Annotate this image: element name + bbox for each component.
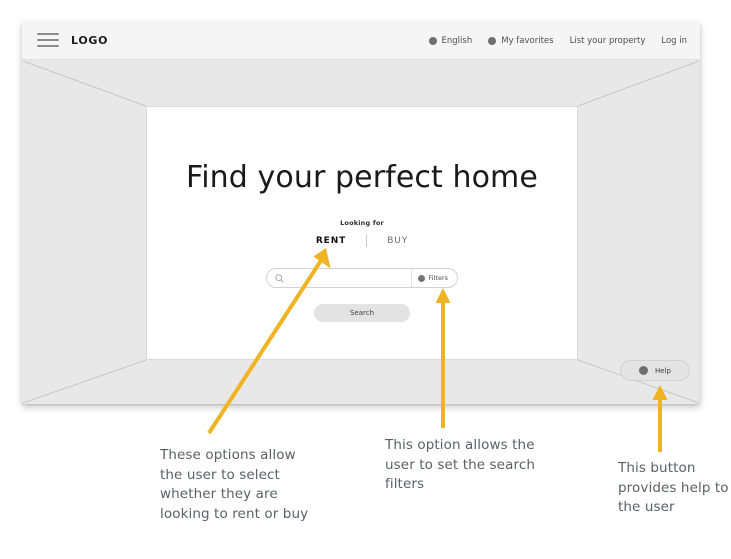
top-navigation-bar: LOGO English My favorites List your prop… — [22, 22, 700, 60]
help-label: Help — [655, 367, 671, 375]
nav-item-log-in[interactable]: Log in — [661, 36, 687, 46]
search-button[interactable]: Search — [314, 304, 410, 322]
nav-label: List your property — [570, 36, 646, 46]
top-nav-links: English My favorites List your property … — [429, 22, 687, 60]
search-bar: Filters — [266, 268, 458, 288]
heart-dot-icon — [488, 37, 496, 45]
nav-label: Log in — [661, 36, 687, 46]
hamburger-line — [37, 39, 59, 41]
page-title: Find your perfect home — [147, 160, 577, 195]
looking-for-label: Looking for — [147, 219, 577, 227]
hamburger-line — [37, 45, 59, 47]
help-dot-icon — [639, 366, 648, 375]
annotation-text-rent-buy: These options allow the user to select w… — [160, 446, 320, 524]
hero-content-panel: Find your perfect home Looking for RENT … — [146, 106, 578, 360]
hamburger-menu-icon[interactable] — [37, 33, 59, 48]
nav-label: My favorites — [501, 36, 553, 46]
tab-divider — [366, 234, 367, 247]
nav-label: English — [442, 36, 473, 46]
nav-item-list-your-property[interactable]: List your property — [570, 36, 646, 46]
nav-item-my-favorites[interactable]: My favorites — [488, 36, 553, 46]
app-window-frame: LOGO English My favorites List your prop… — [22, 22, 700, 404]
filters-button[interactable]: Filters — [412, 274, 457, 282]
site-logo[interactable]: LOGO — [71, 34, 108, 47]
annotation-text-filters: This option allows the user to set the s… — [385, 436, 535, 495]
tab-rent[interactable]: RENT — [316, 236, 346, 246]
filters-label: Filters — [429, 274, 448, 282]
nav-item-english[interactable]: English — [429, 36, 473, 46]
search-icon — [275, 274, 284, 283]
help-button[interactable]: Help — [620, 360, 690, 381]
globe-dot-icon — [429, 37, 437, 45]
rent-buy-tab-group: RENT BUY — [147, 234, 577, 247]
filters-dot-icon — [418, 275, 425, 282]
hamburger-line — [37, 33, 59, 35]
tab-buy[interactable]: BUY — [387, 236, 408, 246]
annotation-text-help: This button provides help to the user — [618, 459, 731, 518]
search-input[interactable] — [289, 273, 411, 283]
